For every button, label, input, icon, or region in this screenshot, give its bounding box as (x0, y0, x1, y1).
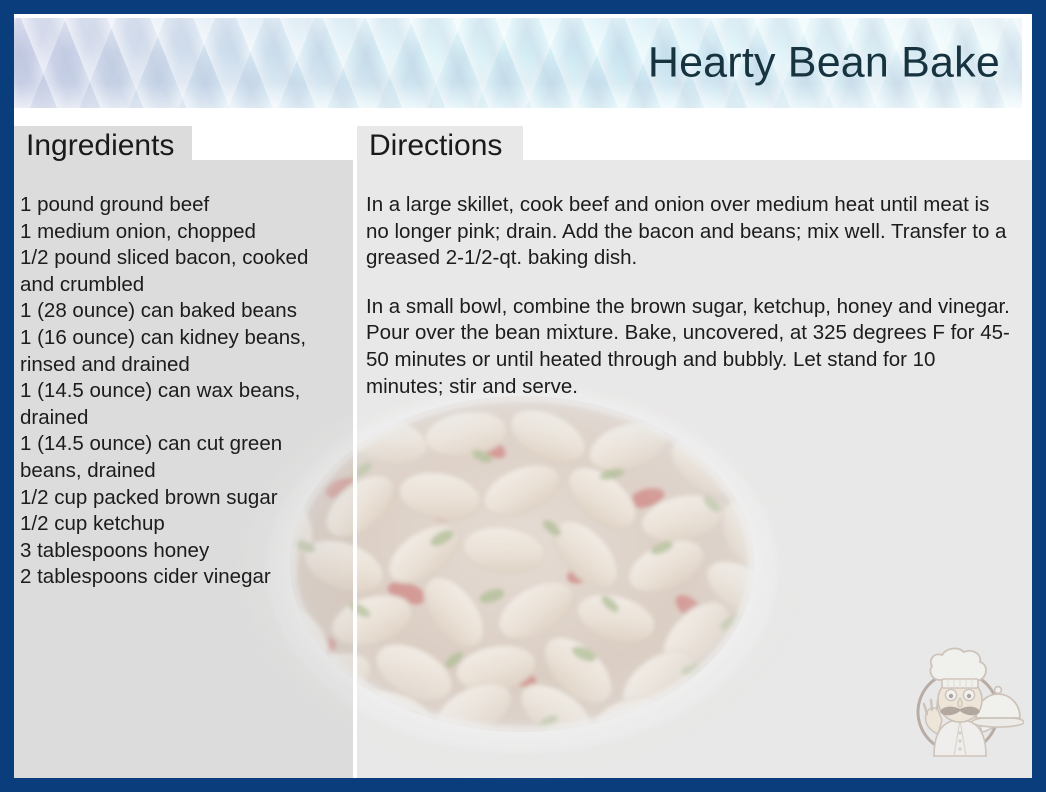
ingredient-item: 1 (16 ounce) can kidney beans, rinsed an… (20, 325, 342, 378)
direction-paragraph: In a large skillet, cook beef and onion … (366, 192, 1016, 272)
recipe-card: Hearty Bean Bake (0, 0, 1046, 792)
ingredient-item: 2 tablespoons cider vinegar (20, 564, 342, 591)
ingredient-item: 1 medium onion, chopped (20, 219, 342, 246)
column-divider (353, 160, 357, 778)
ingredients-heading: Ingredients (26, 131, 174, 161)
ingredient-item: 1 pound ground beef (20, 192, 342, 219)
ingredient-item: 3 tablespoons honey (20, 538, 342, 565)
page-title: Hearty Bean Bake (648, 39, 1000, 88)
ingredient-item: 1 (28 ounce) can baked beans (20, 298, 342, 325)
chef-mascot-logo (898, 638, 1024, 764)
ingredients-list: 1 pound ground beef1 medium onion, chopp… (20, 192, 342, 591)
directions-text: In a large skillet, cook beef and onion … (366, 192, 1016, 400)
ingredient-item: 1 (14.5 ounce) can cut green beans, drai… (20, 431, 342, 484)
section-tab-directions: Directions (357, 126, 523, 166)
ingredient-item: 1/2 pound sliced bacon, cooked and crumb… (20, 245, 342, 298)
ingredient-item: 1/2 cup ketchup (20, 511, 342, 538)
section-tab-ingredients: Ingredients (14, 126, 192, 166)
ingredient-item: 1 (14.5 ounce) can wax beans, drained (20, 378, 342, 431)
header-banner: Hearty Bean Bake (14, 18, 1022, 108)
direction-paragraph: In a small bowl, combine the brown sugar… (366, 294, 1016, 400)
ingredient-item: 1/2 cup packed brown sugar (20, 485, 342, 512)
directions-heading: Directions (369, 131, 502, 161)
